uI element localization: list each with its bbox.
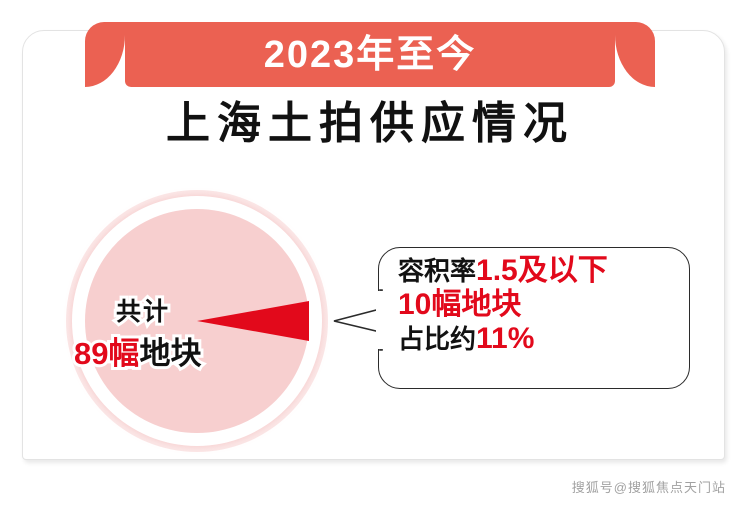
callout-line-3: 占比约11% [398, 324, 688, 354]
callout-line-2-value: 10幅地块 [398, 288, 521, 321]
callout-tail [332, 288, 384, 352]
callout-line-1: 容积率1.5及以下 [398, 256, 688, 286]
callout-line-2: 10幅地块 [398, 290, 688, 320]
pie-slice-highlight [85, 209, 309, 433]
infographic-canvas: 2023年至今 上海土拍供应情况 共计 89幅地块 容积率1.5及以下 10幅地… [0, 0, 740, 506]
page-title: 上海土拍供应情况 [0, 99, 740, 150]
ribbon-banner: 2023年至今 [0, 0, 740, 110]
callout-line-1-label: 容积率 [398, 256, 476, 286]
pie-chart: 共计 89幅地块 [58, 182, 338, 460]
ribbon-label: 2023年至今 [125, 22, 615, 87]
watermark: 搜狐号@搜狐焦点天门站 [572, 477, 726, 496]
callout-text-group: 容积率1.5及以下 10幅地块 占比约11% [398, 256, 688, 358]
callout-line-3-value: 11% [476, 322, 534, 355]
callout-line-3-label: 占比约 [398, 324, 476, 354]
callout-line-1-value: 1.5及以下 [476, 254, 608, 287]
